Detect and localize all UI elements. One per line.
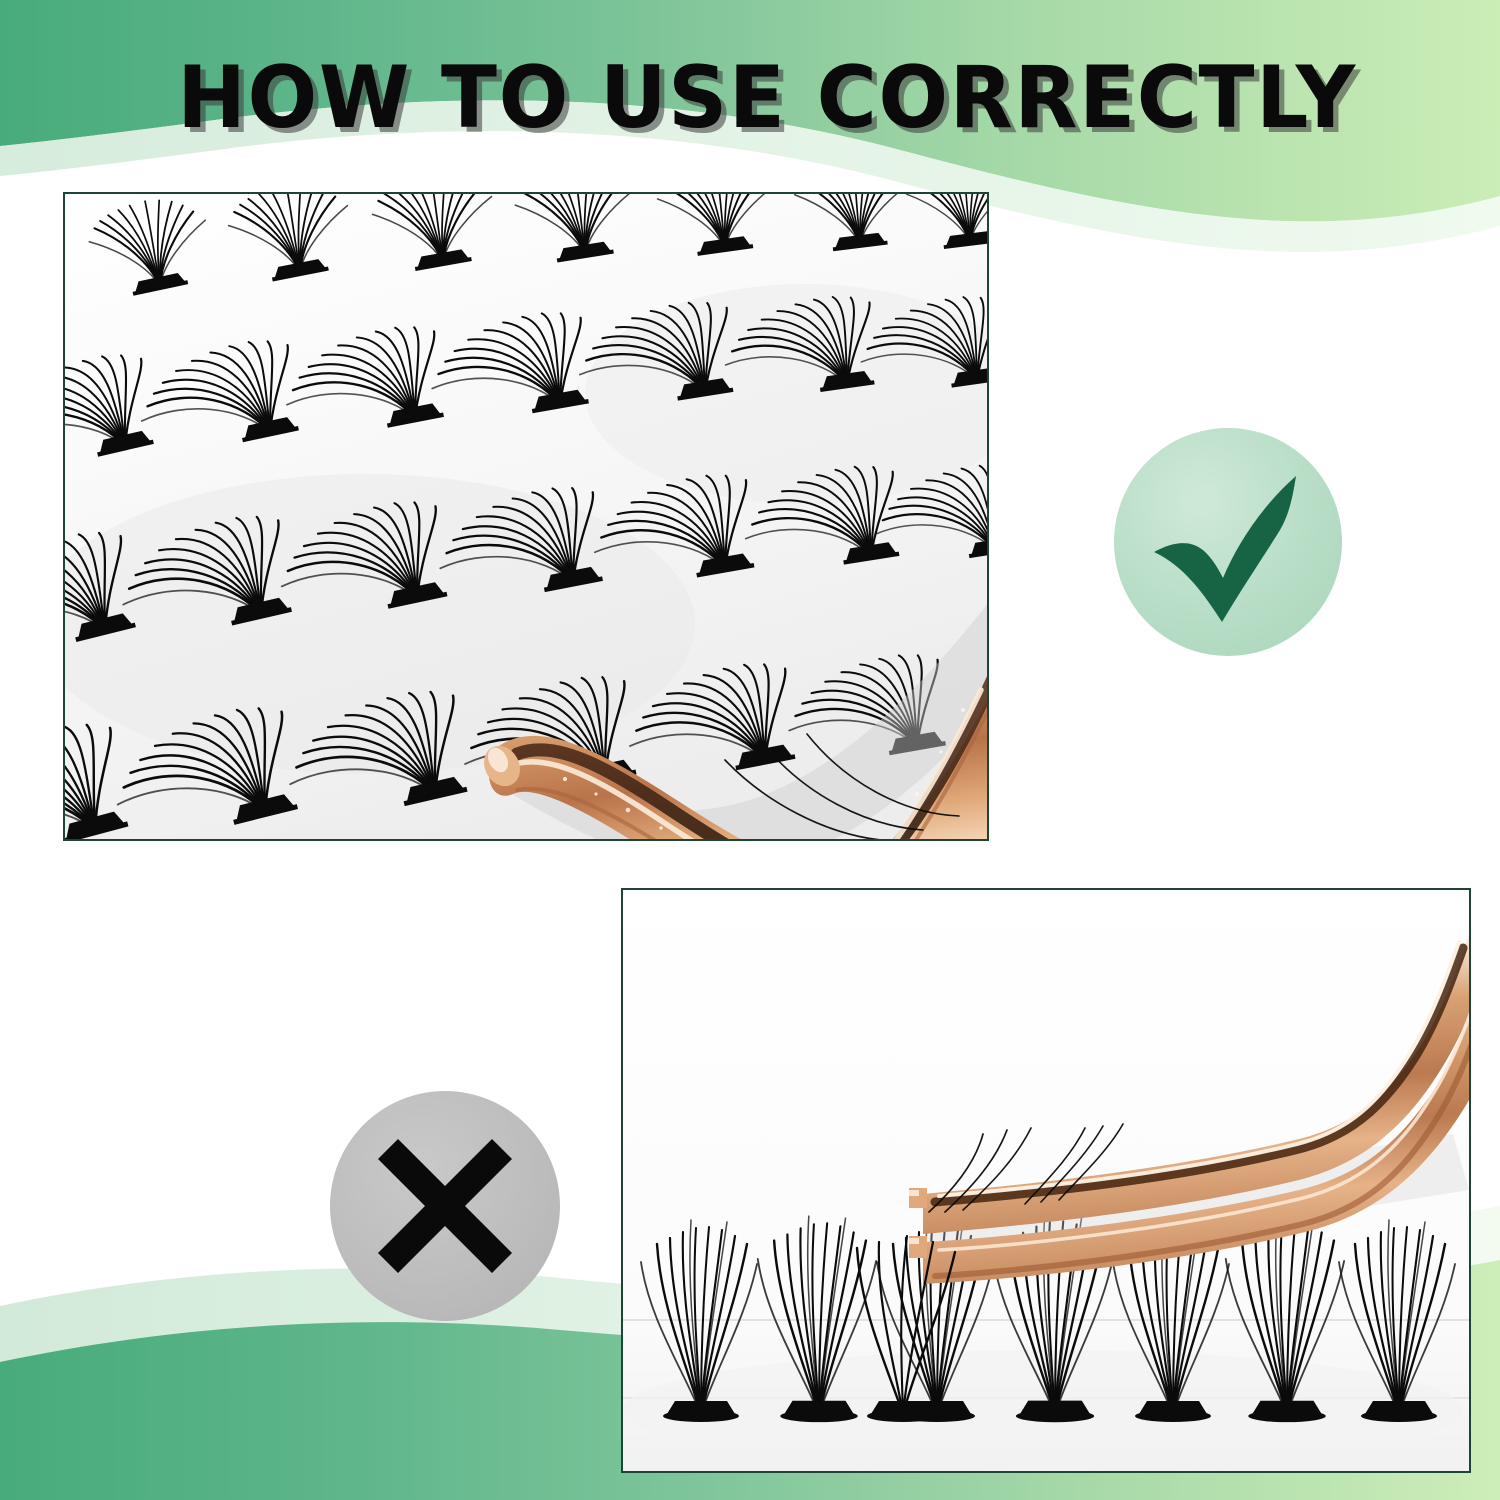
correct-check-badge [1114, 428, 1342, 656]
page-title: HOW TO USE CORRECTLY [177, 52, 1332, 144]
cross-icon [370, 1131, 520, 1281]
correct-usage-photo [63, 192, 989, 841]
infographic-canvas: HOW TO USE CORRECTLY [0, 0, 1500, 1500]
incorrect-cross-badge [330, 1091, 560, 1321]
correct-usage-photo-image [65, 194, 987, 839]
incorrect-usage-photo [621, 888, 1471, 1473]
incorrect-usage-photo-image [623, 890, 1469, 1471]
check-icon [1142, 456, 1314, 628]
